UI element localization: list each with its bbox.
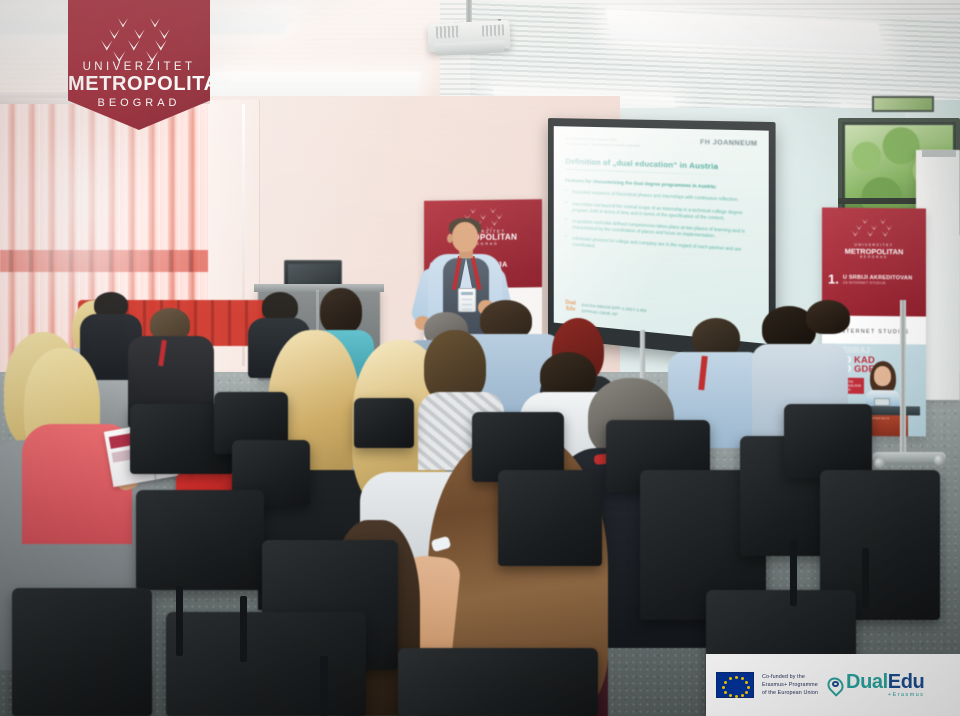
banner-stand-pole (900, 300, 906, 460)
corner-metropolitan: METROPOLITAN (68, 74, 210, 95)
dualedu-word-row: DualEdu (846, 672, 924, 692)
slide-project-code: EACEA 586226-EPP-1-2017-1-RS EPPKA2-CBHE… (582, 302, 647, 319)
screen-stand-leg (640, 330, 645, 378)
projector-vent (482, 24, 505, 36)
chair-leg (862, 548, 869, 608)
chair (12, 588, 152, 716)
audience-hair (806, 300, 850, 334)
corner-univerzitet: UNIVERZITET (68, 60, 210, 74)
chair (166, 612, 366, 716)
presenter-ear (447, 234, 453, 243)
dualedu-sub: +Erasmus (846, 693, 924, 699)
european-union-flag-icon (716, 672, 754, 698)
promo-laptop-icon (874, 398, 890, 406)
promo-person-head (874, 366, 891, 386)
chair-leg (790, 540, 797, 606)
chair (354, 398, 414, 448)
rank-number: 1. (828, 274, 839, 286)
metropolitan-chevron-icon (424, 205, 542, 231)
chair-leg (176, 586, 183, 656)
presentation-slide: FH JOANNEUM Graz, Austria 2019 Work pack… (554, 126, 769, 344)
location-pin-icon (828, 677, 843, 694)
funding-line-2: Erasmus+ Programme (762, 681, 818, 689)
screen-surface: FH JOANNEUM Graz, Austria 2019 Work pack… (554, 126, 769, 344)
lectern-top (254, 284, 384, 292)
ceiling-light (184, 72, 422, 96)
slide-dualedu-edu: Edu (565, 306, 576, 312)
chair-leg (320, 656, 328, 716)
metropolitan-chevron-icon (822, 217, 926, 240)
slide-brand: FH JOANNEUM (700, 139, 757, 148)
funding-line-1: Co-funded by the (762, 673, 818, 681)
slide-dualedu-logo: Dual Edu (565, 301, 576, 313)
rank-text: U SRBIJI AKREDITOVAN ZA INTERNET STUDIJE (843, 275, 912, 286)
presenter-head (452, 222, 478, 252)
metropolitan-chevron-icon (68, 18, 210, 64)
dualedu-dual: Dual (846, 671, 888, 693)
rank-subtitle: ZA INTERNET STUDIJE (843, 281, 912, 286)
dualedu-edu: Edu (888, 671, 925, 693)
erasmus-funding-text: Co-funded by the Erasmus+ Programme of t… (762, 673, 818, 697)
dualedu-wordmark: DualEdu +Erasmus (846, 672, 924, 699)
right-banner-rank: 1. U SRBIJI AKREDITOVAN ZA INTERNET STUD… (828, 274, 912, 287)
transom-window (872, 96, 934, 112)
chair (784, 404, 872, 478)
right-banner-logo: UNIVERZITET METROPOLITAN BEOGRAD (822, 243, 926, 259)
funding-line-3: of the European Union (762, 689, 818, 697)
funding-logo-strip: Co-funded by the Erasmus+ Programme of t… (706, 654, 960, 716)
presenter-badge (458, 288, 476, 312)
chair (136, 490, 264, 590)
banner-stand-wheel (874, 458, 885, 469)
conference-photo: FH JOANNEUM Graz, Austria 2019 Work pack… (0, 0, 960, 716)
banner-logo-text: UNIVERZITET METROPOLITAN BEOGRAD (424, 229, 542, 247)
slide-bullet-list: Repeated sequence of theoretical phases … (565, 189, 756, 260)
audience-hair (320, 288, 362, 334)
flipchart-clip (922, 150, 956, 157)
banner-stand-wheel (934, 455, 945, 466)
corner-banner-text: UNIVERZITET METROPOLITAN BEOGRAD (68, 60, 210, 112)
chair (498, 470, 602, 566)
dualedu-logo: DualEdu +Erasmus (828, 672, 924, 699)
chair (398, 648, 598, 716)
chair-leg (240, 596, 247, 662)
projector-vent (436, 25, 461, 38)
